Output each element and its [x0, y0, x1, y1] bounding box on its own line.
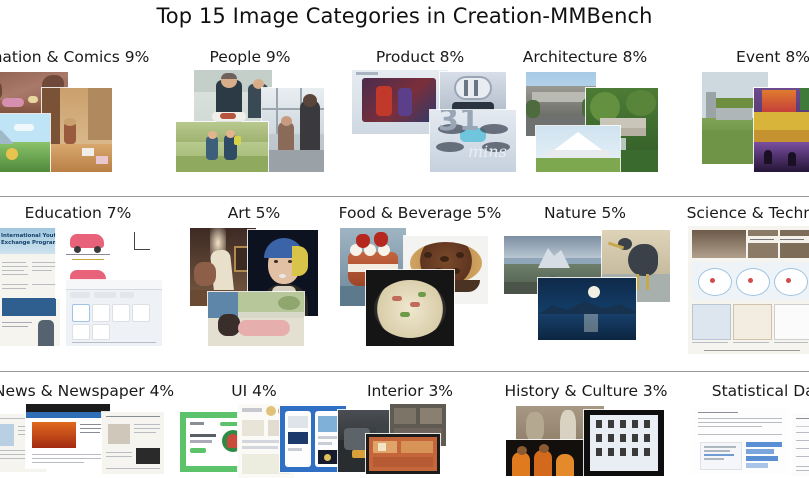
- sample-image-business-window: [262, 88, 324, 172]
- collage-architecture: [500, 70, 670, 196]
- sample-image-stats-table: [792, 414, 809, 476]
- category-label-product: Product 8%: [330, 48, 510, 66]
- collage-ui: [176, 404, 332, 472]
- category-cell-nature[interactable]: Nature 5%: [500, 204, 670, 371]
- collage-news-newspaper: [0, 404, 184, 472]
- sample-image-research-paper: [688, 226, 809, 354]
- category-row-2: Education 7% International Youth Exchang…: [0, 204, 809, 371]
- category-label-food-beverage: Food & Beverage 5%: [332, 204, 508, 222]
- category-row-1: Animation & Comics 9%: [0, 48, 809, 196]
- collage-event: [688, 70, 809, 196]
- category-cell-history-culture[interactable]: History & Culture 3%: [498, 382, 674, 472]
- sample-image-exchange-flyer: International Youth Exchange Program: [0, 228, 60, 346]
- sample-image-script-chart: [584, 410, 664, 476]
- sample-image-newspaper-page-right: [102, 412, 164, 474]
- collage-statistical-data: [676, 404, 809, 472]
- sample-image-software-dialog: [66, 280, 162, 346]
- collage-food-beverage: [332, 226, 508, 371]
- category-label-history-culture: History & Culture 3%: [498, 382, 674, 400]
- sample-image-monks: [506, 440, 588, 476]
- education-flyer-title-line1: International Youth: [1, 233, 60, 239]
- figure-root: Top 15 Image Categories in Creation-MMBe…: [0, 0, 809, 472]
- sample-image-concert-crowd: [754, 88, 809, 172]
- row-separator-2: [0, 371, 809, 372]
- sample-image-kids-field: [176, 122, 268, 172]
- collage-science-technology: [676, 226, 809, 371]
- category-cell-art[interactable]: Art 5%: [176, 204, 332, 371]
- category-cell-people[interactable]: People 9%: [168, 48, 332, 196]
- sample-image-dino-landscape: [0, 114, 50, 172]
- category-cell-animation-comics[interactable]: Animation & Comics 9%: [0, 48, 156, 196]
- collage-interior: [332, 404, 488, 472]
- category-cell-ui[interactable]: UI 4%: [176, 382, 332, 472]
- category-cell-interior[interactable]: Interior 3%: [332, 382, 488, 472]
- category-cell-architecture[interactable]: Architecture 8%: [500, 48, 670, 196]
- category-cell-event[interactable]: Event 8%: [688, 48, 809, 196]
- collage-people: [168, 70, 332, 196]
- category-label-nature: Nature 5%: [500, 204, 670, 222]
- category-label-statistical-data: Statistical Data: [676, 382, 809, 400]
- category-cell-news-newspaper[interactable]: News & Newspaper 4%: [0, 382, 184, 472]
- category-row-3: News & Newspaper 4%: [0, 382, 809, 472]
- category-label-news-newspaper: News & Newspaper 4%: [0, 382, 184, 400]
- category-cell-product[interactable]: Product 8%: [330, 48, 510, 196]
- category-cell-food-beverage[interactable]: Food & Beverage 5%: [332, 204, 508, 371]
- category-label-education: Education 7%: [0, 204, 162, 222]
- category-label-architecture: Architecture 8%: [500, 48, 670, 66]
- sample-image-skillet-pasta: [366, 270, 454, 346]
- education-flyer-title-line2: Exchange Program: [1, 240, 58, 246]
- sample-image-floorplan-bottom: [366, 434, 440, 474]
- category-label-science-technology: Science & Technology: [676, 204, 809, 222]
- category-cell-science-technology[interactable]: Science & Technology: [676, 204, 809, 371]
- sample-image-news-website: [26, 404, 110, 468]
- collage-history-culture: [498, 404, 674, 472]
- collage-education: International Youth Exchange Program: [0, 226, 162, 371]
- category-label-interior: Interior 3%: [332, 382, 488, 400]
- collage-product: 31 mins: [330, 70, 510, 196]
- collage-animation-comics: [0, 70, 156, 196]
- product-drone-number: 31: [438, 110, 480, 136]
- category-label-animation-comics: Animation & Comics 9%: [0, 48, 156, 66]
- page-title: Top 15 Image Categories in Creation-MMBe…: [0, 4, 809, 28]
- sample-image-cartoon-room: [42, 88, 112, 172]
- sample-image-terrace-painting: [208, 292, 304, 346]
- category-label-ui: UI 4%: [176, 382, 332, 400]
- category-cell-education[interactable]: Education 7% International Youth Exchang…: [0, 204, 162, 371]
- category-label-event: Event 8%: [688, 48, 809, 66]
- sample-image-moonlit-lake: [538, 278, 636, 340]
- category-label-art: Art 5%: [176, 204, 332, 222]
- row-separator-1: [0, 196, 809, 197]
- sample-image-stats-report: [692, 408, 788, 474]
- category-label-people: People 9%: [168, 48, 332, 66]
- category-cell-statistical-data[interactable]: Statistical Data: [676, 382, 809, 472]
- collage-art: [176, 226, 332, 371]
- sample-image-art-museum: [536, 126, 620, 172]
- collage-nature: [500, 226, 670, 371]
